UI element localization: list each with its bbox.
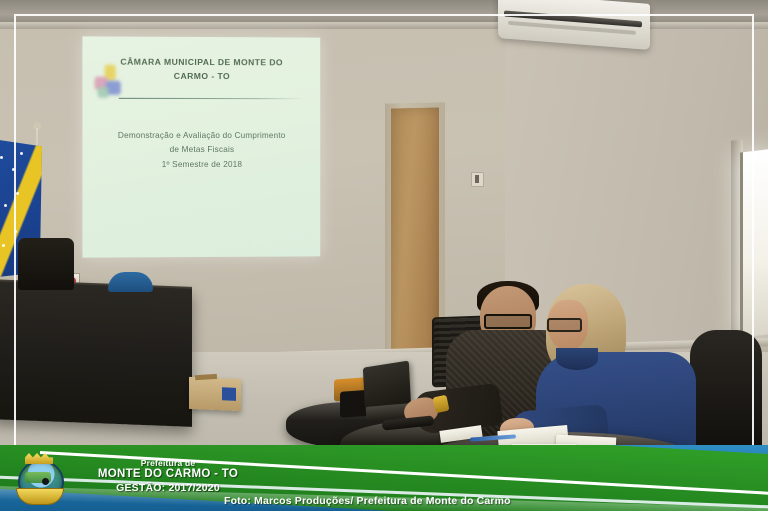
seated-woman-collar: [556, 348, 598, 370]
box-label: [222, 387, 236, 401]
slide-body-line-3: 1º Semestre de 2018: [82, 158, 320, 173]
screenshot-root: CÂMARA MUNICIPAL DE MONTE DO CARMO - TO …: [0, 0, 768, 511]
slide-divider: [119, 98, 305, 99]
crest-crown: [25, 453, 53, 464]
cardboard-box: [189, 377, 241, 411]
slide-heading: CÂMARA MUNICIPAL DE MONTE DO CARMO - TO: [93, 55, 311, 84]
right-window: [740, 147, 768, 337]
slide-body-line-1: Demonstração e Avaliação do Cumprimento: [82, 129, 320, 143]
prefeitura-line-1: Prefeitura de: [78, 458, 258, 468]
projection-screen: CÂMARA MUNICIPAL DE MONTE DO CARMO - TO …: [82, 36, 320, 257]
podium: [0, 281, 192, 427]
projected-slide: CÂMARA MUNICIPAL DE MONTE DO CARMO - TO …: [82, 36, 320, 257]
photo-credit: Foto: Marcos Produções/ Prefeitura de Mo…: [224, 495, 511, 507]
seated-woman-glasses-icon: [547, 318, 582, 332]
pinwheel-logo-icon: [95, 65, 125, 99]
prefeitura-text-block: Prefeitura de MONTE DO CARMO - TO GESTÃO…: [78, 458, 258, 494]
meeting-room-photograph: CÂMARA MUNICIPAL DE MONTE DO CARMO - TO …: [0, 0, 768, 511]
chair-left: [18, 238, 74, 290]
light-switch-icon: [471, 172, 484, 187]
slide-heading-line-2: CARMO - TO: [93, 69, 311, 84]
coat-of-arms-icon: [14, 452, 66, 504]
crest-emblem: [42, 478, 49, 485]
seated-man-glasses-icon: [484, 314, 532, 329]
slide-body-line-2: de Metas Fiscais: [82, 143, 320, 157]
wristwatch: [432, 395, 449, 414]
crest-ribbon: [16, 488, 64, 505]
chair-office-right: [690, 330, 762, 460]
slide-body: Demonstração e Avaliação do Cumprimento …: [82, 129, 320, 172]
prefeitura-line-2: MONTE DO CARMO - TO: [78, 468, 258, 482]
box-tape: [195, 374, 217, 380]
slide-heading-line-1: CÂMARA MUNICIPAL DE MONTE DO: [93, 55, 311, 70]
prefeitura-line-3: GESTÃO: 2017/2020: [78, 482, 258, 494]
chair-blue-headrest: [108, 272, 153, 292]
ceiling-edge: [0, 22, 768, 29]
